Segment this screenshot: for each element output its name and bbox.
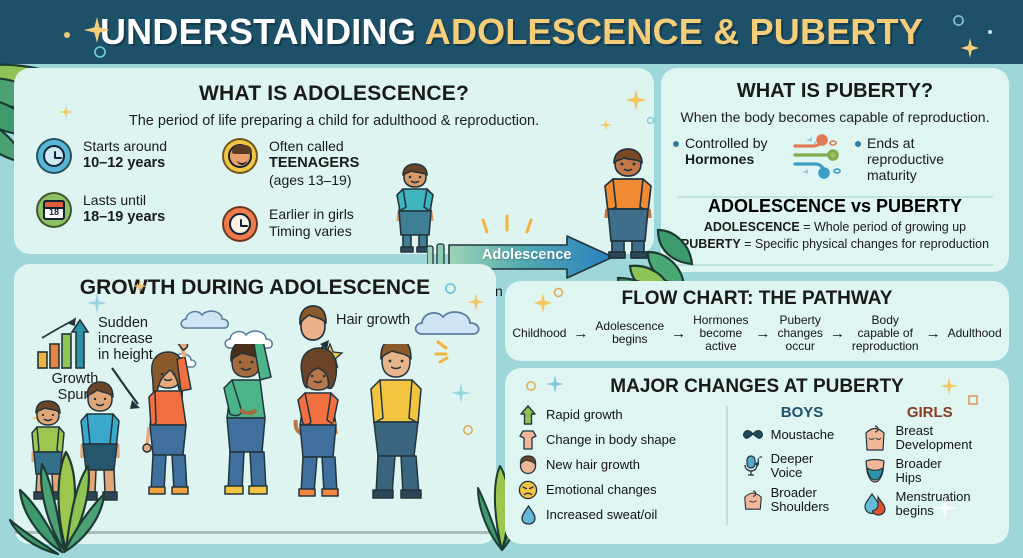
hips-icon: [862, 460, 888, 482]
change-emotional: Emotional changes: [517, 479, 726, 501]
girls-change-label2: begins: [895, 503, 933, 518]
cloud-icon: [412, 306, 486, 338]
hair-growth-label: Hair growth: [336, 312, 410, 328]
change-label: Emotional changes: [546, 483, 657, 497]
calendar-icon: 18: [36, 192, 72, 228]
page-title: UNDERSTANDING ADOLESCENCE & PUBERTY: [100, 14, 923, 50]
card-what-is-adolescence: WHAT IS ADOLESCENCE? The period of life …: [14, 68, 654, 254]
fact-line: Lasts until: [83, 192, 165, 208]
comparison-term: ADOLESCENCE: [704, 220, 800, 234]
change-body-shape: Change in body shape: [517, 429, 726, 451]
boys-heading: BOYS: [742, 404, 863, 421]
flow-step-line: Adulthood: [948, 327, 1002, 340]
flow-step-line: become: [693, 327, 748, 340]
flow-step-line: capable of: [852, 327, 919, 340]
flow-arrow-icon: →: [926, 326, 941, 341]
fact-line: Timing varies: [269, 223, 354, 239]
page-title-part1: UNDERSTANDING: [100, 11, 425, 52]
card-major-changes: MAJOR CHANGES AT PUBERTY Rapid growth Ch…: [505, 368, 1009, 544]
flow-step-line: active: [693, 340, 748, 353]
boys-change-broader-shoulders: Broader Shoulders: [742, 486, 863, 514]
growth-title: GROWTH DURING ADOLESCENCE: [14, 276, 496, 300]
adolescence-facts-col2: Often called TEENAGERS (ages 13–19) Earl…: [222, 138, 402, 260]
flow-step-childhood: Childhood: [512, 327, 566, 340]
up-arrow-icon: [517, 404, 539, 426]
adolescence-subtitle: The period of life preparing a child for…: [14, 113, 654, 129]
bullet-emphasis: Hormones: [685, 151, 754, 167]
head-hair-icon: [292, 302, 334, 348]
flow-step-body-capable: Body capable of reproduction: [852, 314, 919, 353]
change-label: New hair growth: [546, 458, 640, 472]
change-label: Increased sweat/oil: [546, 508, 657, 522]
girls-heading: GIRLS: [862, 404, 997, 421]
girls-change-breast-development: Breast Development: [862, 424, 997, 452]
flow-steps-row: Childhood → Adolescence begins → Hormone…: [505, 314, 1009, 353]
flow-chart-title: FLOW CHART: THE PATHWAY: [505, 288, 1009, 310]
spurt-text-line: Sudden: [98, 316, 153, 332]
flow-step-adolescence-begins: Adolescence begins: [595, 320, 664, 346]
boys-change-label: Deeper: [771, 451, 814, 466]
bullet-line: maturity: [867, 167, 944, 183]
timer-icon: [222, 206, 258, 242]
flow-arrow-icon: →: [830, 326, 845, 341]
burst-decor-icon: [477, 212, 537, 236]
fact-value: 10–12 years: [83, 155, 165, 171]
dot-decor-icon: [986, 28, 994, 36]
female-torso-icon: [862, 427, 888, 449]
divider: [677, 264, 993, 266]
infographic-page: UNDERSTANDING ADOLESCENCE & PUBERTY WHAT…: [0, 0, 1023, 558]
boys-change-label: Moustache: [771, 428, 835, 442]
torso-icon: [742, 489, 764, 511]
girls-change-label2: Development: [895, 437, 972, 452]
adolescence-title: WHAT IS ADOLESCENCE?: [14, 82, 654, 106]
comparison-text: = Specific physical changes for reproduc…: [741, 237, 989, 251]
boys-change-label: Broader: [771, 485, 817, 500]
fact-line: Starts around: [83, 138, 167, 154]
change-sweat-oil: Increased sweat/oil: [517, 504, 726, 526]
header-banner: UNDERSTANDING ADOLESCENCE & PUBERTY: [0, 0, 1023, 64]
hormones-icon: [789, 133, 851, 179]
water-drop-icon: [517, 504, 539, 526]
puberty-bullets: Controlled by Hormones: [661, 135, 1009, 184]
fact-teenagers: Often called TEENAGERS (ages 13–19): [222, 138, 402, 188]
flow-step-line: Puberty: [778, 314, 823, 327]
boys-change-label2: Shoulders: [771, 499, 830, 514]
flow-step-hormones-active: Hormones become active: [693, 314, 748, 353]
boys-change-label2: Voice: [771, 465, 803, 480]
major-changes-columns: Rapid growth Change in body shape: [505, 404, 1009, 529]
fact-line: Earlier in girls: [269, 206, 354, 222]
flow-step-line: reproduction: [852, 340, 919, 353]
divider: [677, 196, 993, 198]
change-rapid-growth: Rapid growth: [517, 404, 726, 426]
flow-step-line: changes: [778, 327, 823, 340]
comparison-line-puberty: PUBERTY = Specific physical changes for …: [661, 237, 1009, 251]
flow-arrow-icon: →: [756, 326, 771, 341]
girls-change-label: Breast: [895, 423, 933, 438]
common-changes-column: Rapid growth Change in body shape: [517, 404, 726, 529]
flow-step-adulthood: Adulthood: [948, 327, 1002, 340]
flow-step-line: Childhood: [512, 327, 566, 340]
bullet-reproductive-maturity: Ends at reproductive maturity: [855, 135, 967, 184]
comparison-text: = Whole period of growing up: [800, 220, 966, 234]
page-title-part2: ADOLESCENCE & PUBERTY: [425, 11, 923, 52]
girls-change-label: Broader: [895, 456, 941, 471]
moustache-icon: [742, 424, 764, 446]
microphone-icon: [742, 455, 764, 477]
change-new-hair: New hair growth: [517, 454, 726, 476]
change-label: Change in body shape: [546, 433, 676, 447]
flow-step-line: begins: [595, 333, 664, 346]
bullet-dot: [855, 141, 861, 147]
card-what-is-puberty: WHAT IS PUBERTY? When the body becomes c…: [661, 68, 1009, 272]
teen-face-icon: [222, 138, 258, 174]
major-changes-title: MAJOR CHANGES AT PUBERTY: [505, 376, 1009, 398]
flow-step-line: Hormones: [693, 314, 748, 327]
dot-decor-icon: [62, 30, 72, 40]
card-flow-chart: FLOW CHART: THE PATHWAY Childhood → Adol…: [505, 281, 1009, 361]
column-divider: [726, 406, 728, 525]
ring-decor-icon: [952, 14, 965, 27]
comparison-line-adolescence: ADOLESCENCE = Whole period of growing up: [661, 220, 1009, 234]
comparison-title: ADOLESCENCE vs PUBERTY: [661, 196, 1009, 217]
girls-changes-column: GIRLS Breast Development: [862, 404, 997, 529]
body-shape-icon: [517, 429, 539, 451]
plant-decoration-icon: [8, 450, 118, 558]
puberty-title: WHAT IS PUBERTY?: [661, 80, 1009, 103]
blood-drop-icon: [862, 493, 888, 515]
bullet-line: Controlled by: [685, 135, 768, 151]
fact-value: 18–19 years: [83, 209, 165, 225]
flow-arrow-icon: →: [671, 326, 686, 341]
flow-step-puberty-changes: Puberty changes occur: [778, 314, 823, 353]
arrow-label: Adolescence: [482, 247, 571, 263]
clock-icon: [36, 138, 72, 174]
boys-change-moustache: Moustache: [742, 424, 863, 446]
fact-value: TEENAGERS: [269, 155, 359, 171]
bullet-dot: [673, 141, 679, 147]
flow-arrow-icon: →: [573, 326, 588, 341]
bullet-line: Ends at: [867, 135, 944, 151]
sad-face-icon: [517, 479, 539, 501]
puberty-subtitle: When the body becomes capable of reprodu…: [661, 109, 1009, 125]
boys-changes-column: BOYS Moustache: [726, 404, 863, 529]
boys-change-deeper-voice: Deeper Voice: [742, 452, 863, 480]
girls-change-label: Menstruation: [895, 489, 970, 504]
girls-change-menstruation: Menstruation begins: [862, 490, 997, 518]
fact-line: Often called: [269, 138, 359, 154]
flow-step-line: Body: [852, 314, 919, 327]
change-label: Rapid growth: [546, 408, 623, 422]
hair-head-icon: [517, 454, 539, 476]
bullet-hormones: Controlled by Hormones: [673, 135, 785, 167]
girls-change-broader-hips: Broader Hips: [862, 457, 997, 485]
girls-change-label2: Hips: [895, 470, 921, 485]
sparkle-icon: [958, 36, 982, 60]
flow-step-line: occur: [778, 340, 823, 353]
fact-earlier-in-girls: Earlier in girls Timing varies: [222, 206, 402, 242]
bullet-line: reproductive: [867, 151, 944, 167]
fact-subline: (ages 13–19): [269, 172, 359, 188]
